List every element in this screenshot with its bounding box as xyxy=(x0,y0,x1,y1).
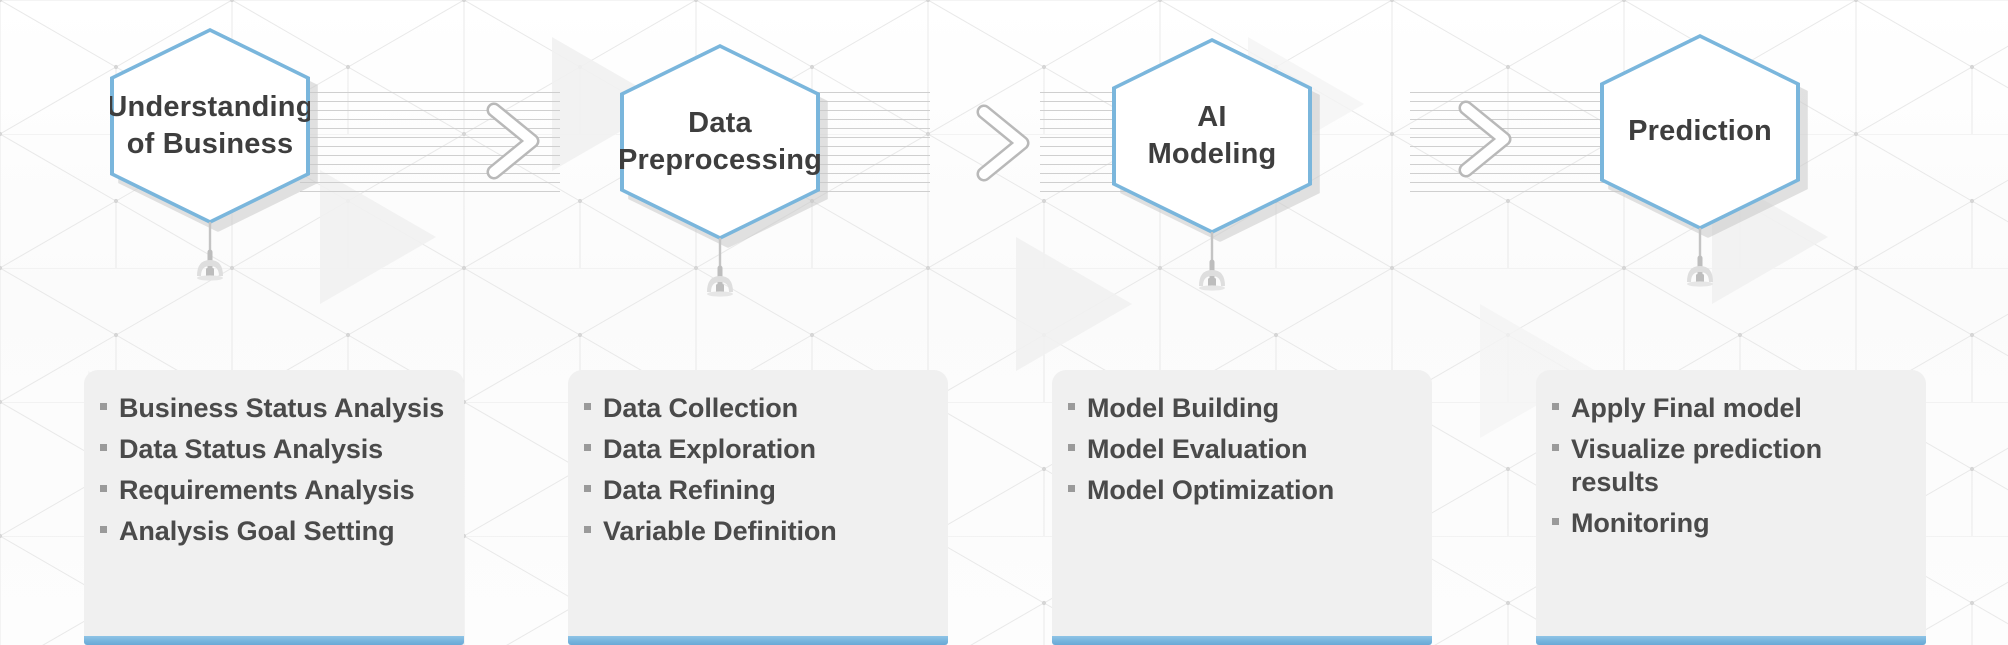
list-item: Variable Definition xyxy=(584,515,932,548)
hanger-pin-icon xyxy=(1189,232,1235,298)
stage-title: AI Modeling xyxy=(1134,99,1291,173)
card-accent-bar xyxy=(84,636,464,645)
stage-hexagon-prediction[interactable]: Prediction xyxy=(1600,34,1800,230)
bullet-list: Apply Final model Visualize prediction r… xyxy=(1552,392,1910,540)
bullet-square-icon xyxy=(100,444,107,451)
stage-card-prediction[interactable]: Apply Final model Visualize prediction r… xyxy=(1536,370,1926,645)
bullet-text: Business Status Analysis xyxy=(119,392,444,425)
bullet-square-icon xyxy=(1068,403,1075,410)
bullet-text: Apply Final model xyxy=(1571,392,1802,425)
stage-title: Understanding of Business xyxy=(92,89,327,163)
bullet-square-icon xyxy=(584,403,591,410)
stage-title: Data Preprocessing xyxy=(604,105,836,179)
bullet-square-icon xyxy=(584,526,591,533)
chevron-right-icon xyxy=(1450,96,1522,182)
bullet-square-icon xyxy=(100,403,107,410)
hanger-pin-icon xyxy=(187,222,233,288)
list-item: Apply Final model xyxy=(1552,392,1910,425)
stage-title: Prediction xyxy=(1614,113,1786,150)
bullet-text: Model Evaluation xyxy=(1087,433,1307,466)
bullet-text: Data Collection xyxy=(603,392,798,425)
bullet-text: Visualize prediction results xyxy=(1571,433,1910,499)
bullet-square-icon xyxy=(100,485,107,492)
bullet-square-icon xyxy=(100,526,107,533)
stage-hexagon-data-preprocessing[interactable]: Data Preprocessing xyxy=(620,44,820,240)
chevron-right-icon xyxy=(968,100,1040,186)
chevron-right-icon xyxy=(478,98,550,184)
bullet-square-icon xyxy=(584,444,591,451)
list-item: Analysis Goal Setting xyxy=(100,515,448,548)
bullet-square-icon xyxy=(1552,444,1559,451)
stage-hexagon-ai-modeling[interactable]: AI Modeling xyxy=(1112,38,1312,234)
hanger-pin-icon xyxy=(697,238,743,304)
bullet-text: Model Optimization xyxy=(1087,474,1334,507)
card-accent-bar xyxy=(568,636,948,645)
list-item: Data Collection xyxy=(584,392,932,425)
bullet-list: Data Collection Data Exploration Data Re… xyxy=(584,392,932,548)
list-item: Data Refining xyxy=(584,474,932,507)
process-flow-diagram: Understanding of Business Data Preproces… xyxy=(0,0,2008,645)
bullet-text: Data Refining xyxy=(603,474,776,507)
list-item: Model Optimization xyxy=(1068,474,1416,507)
list-item: Business Status Analysis xyxy=(100,392,448,425)
bullet-text: Model Building xyxy=(1087,392,1279,425)
list-item: Requirements Analysis xyxy=(100,474,448,507)
bullet-text: Analysis Goal Setting xyxy=(119,515,394,548)
list-item: Data Status Analysis xyxy=(100,433,448,466)
bullet-square-icon xyxy=(1068,444,1075,451)
bullet-square-icon xyxy=(1552,518,1559,525)
card-accent-bar xyxy=(1536,636,1926,645)
bullet-square-icon xyxy=(1552,403,1559,410)
bullet-text: Monitoring xyxy=(1571,507,1709,540)
bullet-list: Business Status Analysis Data Status Ana… xyxy=(100,392,448,548)
bullet-square-icon xyxy=(584,485,591,492)
list-item: Data Exploration xyxy=(584,433,932,466)
list-item: Visualize prediction results xyxy=(1552,433,1910,499)
stage-card-ai-modeling[interactable]: Model Building Model Evaluation Model Op… xyxy=(1052,370,1432,645)
list-item: Model Evaluation xyxy=(1068,433,1416,466)
card-accent-bar xyxy=(1052,636,1432,645)
stage-card-understanding-of-business[interactable]: Business Status Analysis Data Status Ana… xyxy=(84,370,464,645)
hanger-pin-icon xyxy=(1677,228,1723,294)
bullet-text: Variable Definition xyxy=(603,515,837,548)
stage-card-data-preprocessing[interactable]: Data Collection Data Exploration Data Re… xyxy=(568,370,948,645)
list-item: Monitoring xyxy=(1552,507,1910,540)
list-item: Model Building xyxy=(1068,392,1416,425)
bullet-square-icon xyxy=(1068,485,1075,492)
bullet-text: Data Status Analysis xyxy=(119,433,383,466)
bullet-list: Model Building Model Evaluation Model Op… xyxy=(1068,392,1416,507)
bullet-text: Requirements Analysis xyxy=(119,474,415,507)
bullet-text: Data Exploration xyxy=(603,433,816,466)
stage-hexagon-understanding-of-business[interactable]: Understanding of Business xyxy=(110,28,310,224)
